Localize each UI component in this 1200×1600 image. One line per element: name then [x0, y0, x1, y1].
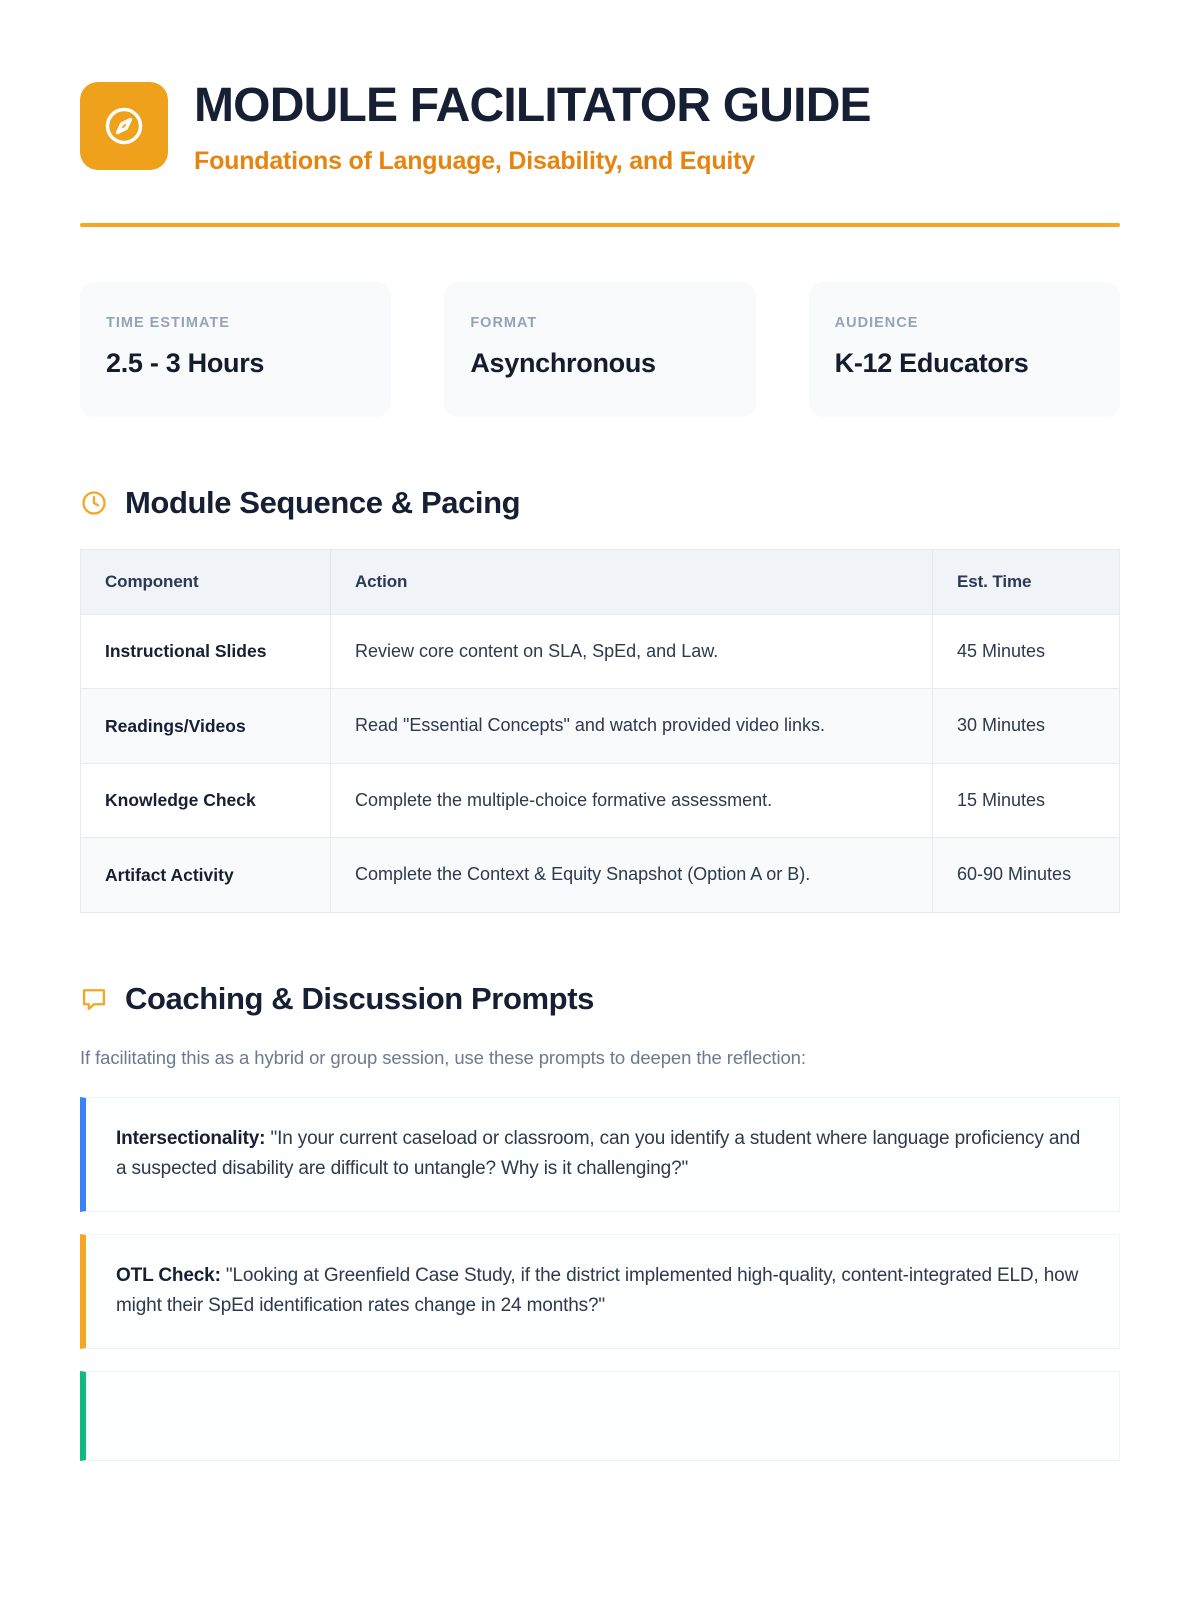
facilitator-guide-page: MODULE FACILITATOR GUIDE Foundations of …	[0, 0, 1200, 1600]
cell-component: Instructional Slides	[81, 614, 331, 689]
cell-est-time: 30 Minutes	[933, 689, 1120, 764]
stat-card-format: FORMAT Asynchronous	[444, 282, 755, 417]
prompt-card-intersectionality: Intersectionality: "In your current case…	[80, 1097, 1120, 1212]
table-body: Instructional Slides Review core content…	[81, 614, 1120, 912]
section-title: Coaching & Discussion Prompts	[125, 981, 594, 1017]
stat-value: 2.5 - 3 Hours	[106, 348, 365, 379]
section-title: Module Sequence & Pacing	[125, 485, 520, 521]
coaching-prompt-list: Intersectionality: "In your current case…	[80, 1097, 1120, 1461]
prompt-label: OTL Check:	[116, 1265, 221, 1286]
prompt-card-third	[80, 1371, 1120, 1461]
stat-card-audience: AUDIENCE K-12 Educators	[809, 282, 1120, 417]
cell-est-time: 15 Minutes	[933, 763, 1120, 838]
stat-value: Asynchronous	[470, 348, 729, 379]
coaching-intro-text: If facilitating this as a hybrid or grou…	[80, 1047, 1120, 1069]
stat-label: AUDIENCE	[835, 315, 1094, 331]
table-header: Component Action Est. Time	[81, 549, 1120, 614]
column-header-component: Component	[81, 549, 331, 614]
prompt-label: Intersectionality:	[116, 1128, 265, 1149]
chat-bubble-icon	[80, 985, 108, 1013]
cell-component: Artifact Activity	[81, 838, 331, 913]
cell-component: Readings/Videos	[81, 689, 331, 764]
table-row: Instructional Slides Review core content…	[81, 614, 1120, 689]
table-header-row: Component Action Est. Time	[81, 549, 1120, 614]
section-heading-module-sequence: Module Sequence & Pacing	[80, 485, 1120, 521]
title-block: MODULE FACILITATOR GUIDE Foundations of …	[194, 78, 871, 176]
cell-component: Knowledge Check	[81, 763, 331, 838]
column-header-est-time: Est. Time	[933, 549, 1120, 614]
table-row: Artifact Activity Complete the Context &…	[81, 838, 1120, 913]
cell-est-time: 60-90 Minutes	[933, 838, 1120, 913]
stat-card-time-estimate: TIME ESTIMATE 2.5 - 3 Hours	[80, 282, 391, 417]
table-row: Readings/Videos Read "Essential Concepts…	[81, 689, 1120, 764]
table-row: Knowledge Check Complete the multiple-ch…	[81, 763, 1120, 838]
module-pacing-table: Component Action Est. Time Instructional…	[80, 549, 1120, 913]
page-title: MODULE FACILITATOR GUIDE	[194, 80, 871, 132]
compass-icon	[80, 82, 168, 170]
stat-value: K-12 Educators	[835, 348, 1094, 379]
cell-action: Review core content on SLA, SpEd, and La…	[331, 614, 933, 689]
column-header-action: Action	[331, 549, 933, 614]
cell-action: Complete the multiple-choice formative a…	[331, 763, 933, 838]
header-divider	[80, 223, 1120, 227]
page-subtitle: Foundations of Language, Disability, and…	[194, 146, 871, 176]
cell-est-time: 45 Minutes	[933, 614, 1120, 689]
cell-action: Complete the Context & Equity Snapshot (…	[331, 838, 933, 913]
summary-stat-row: TIME ESTIMATE 2.5 - 3 Hours FORMAT Async…	[80, 282, 1120, 417]
prompt-card-otl-check: OTL Check: "Looking at Greenfield Case S…	[80, 1234, 1120, 1349]
section-heading-coaching-prompts: Coaching & Discussion Prompts	[80, 981, 1120, 1017]
prompt-text: "Looking at Greenfield Case Study, if th…	[116, 1265, 1078, 1316]
clock-icon	[80, 489, 108, 517]
stat-label: TIME ESTIMATE	[106, 315, 365, 331]
document-header: MODULE FACILITATOR GUIDE Foundations of …	[80, 78, 1120, 176]
cell-action: Read "Essential Concepts" and watch prov…	[331, 689, 933, 764]
stat-label: FORMAT	[470, 315, 729, 331]
